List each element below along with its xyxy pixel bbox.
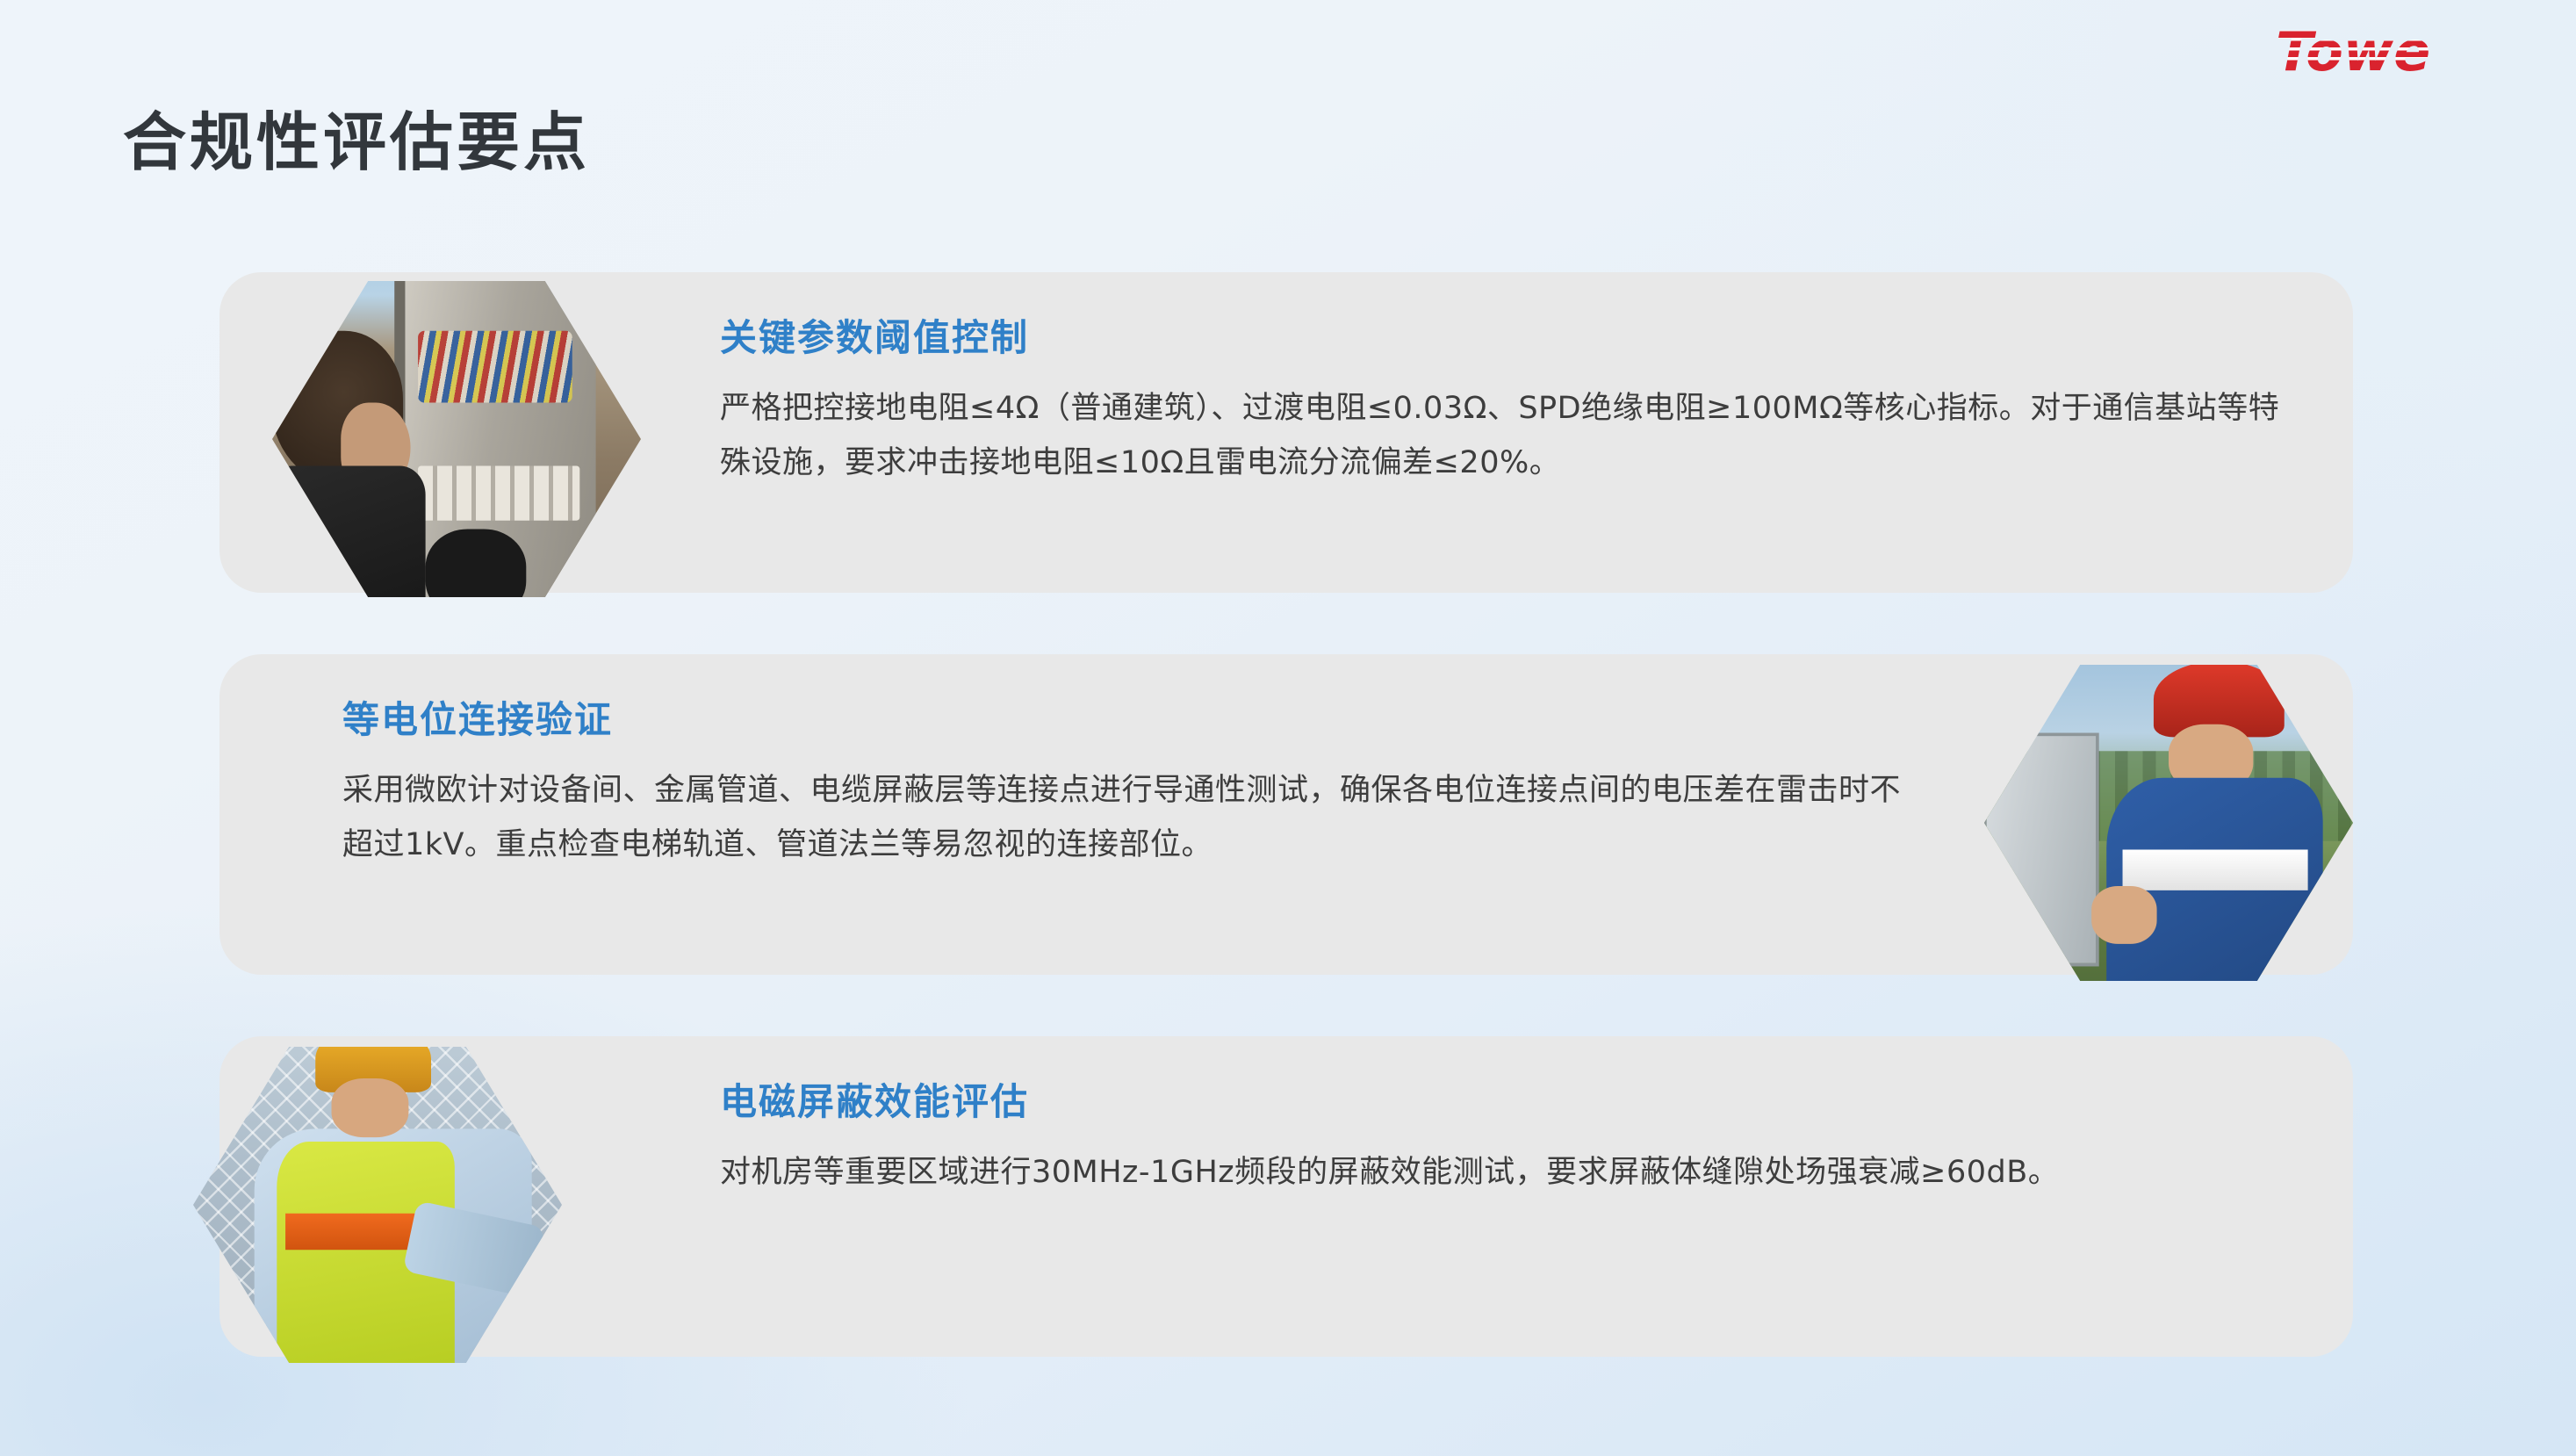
wires-shape (418, 331, 572, 403)
card-text-block: 电磁屏蔽效能评估 对机房等重要区域进行30MHz-1GHz频段的屏蔽效能测试，要… (720, 1082, 2292, 1200)
glove-shape (426, 529, 526, 597)
hand-shape (2091, 886, 2157, 945)
card-text-block: 关键参数阈值控制 严格把控接地电阻≤4Ω（普通建筑）、过渡电阻≤0.03Ω、SP… (720, 318, 2292, 491)
face-shape (331, 1079, 408, 1138)
card-text-block: 等电位连接验证 采用微欧计对设备间、金属管道、电缆屏蔽层等连接点进行导通性测试，… (342, 700, 1914, 873)
suit-stripe-shape (2122, 850, 2307, 890)
card-heading: 等电位连接验证 (342, 700, 1914, 740)
card-heading: 电磁屏蔽效能评估 (720, 1082, 2292, 1122)
card-paragraph: 严格把控接地电阻≤4Ω（普通建筑）、过渡电阻≤0.03Ω、SPD绝缘电阻≥100… (720, 381, 2292, 491)
breakers-shape (418, 466, 579, 520)
towe-logo-icon: Towe (2269, 16, 2532, 86)
card-heading: 关键参数阈值控制 (720, 318, 2292, 358)
page-title: 合规性评估要点 (123, 111, 590, 174)
card-paragraph: 对机房等重要区域进行30MHz-1GHz频段的屏蔽效能测试，要求屏蔽体缝隙处场强… (720, 1145, 2292, 1200)
brand-logo: Towe (2269, 16, 2532, 86)
card-paragraph: 采用微欧计对设备间、金属管道、电缆屏蔽层等连接点进行导通性测试，确保各电位连接点… (342, 763, 1914, 873)
